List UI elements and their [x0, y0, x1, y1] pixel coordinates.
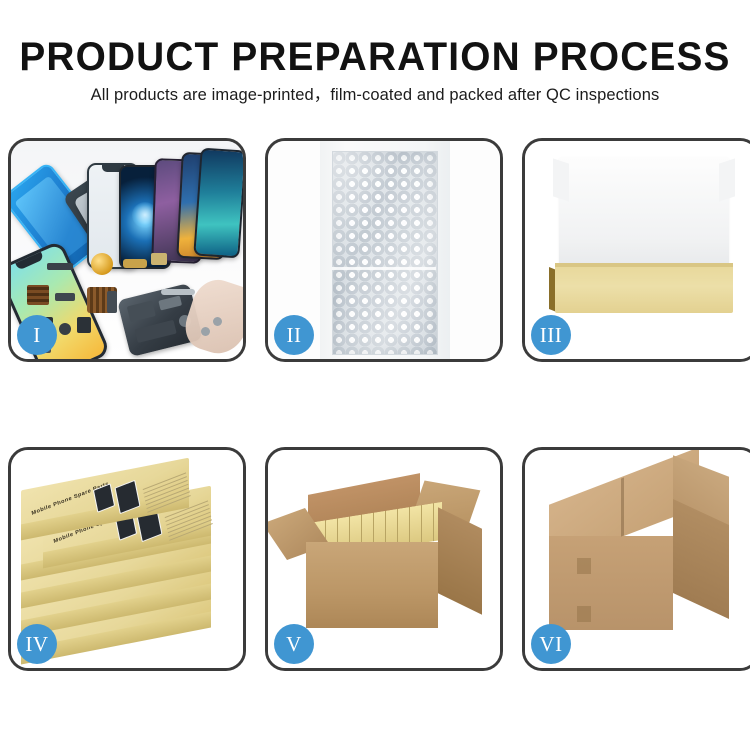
step-panel-2: II	[265, 138, 503, 362]
part-icon	[107, 291, 117, 313]
process-steps-grid: I II III	[8, 138, 742, 676]
part-icon	[59, 323, 71, 335]
carton-front	[306, 542, 438, 628]
bubble-wrap	[332, 151, 438, 355]
wrap-seam	[332, 267, 436, 270]
part-icon	[123, 259, 147, 268]
step-panel-3: III	[522, 138, 750, 362]
phone-screen-teal	[193, 148, 243, 259]
screw-icon	[201, 327, 210, 336]
step-panel-1: I	[8, 138, 246, 362]
carton-tape-mark	[577, 558, 591, 574]
step-panel-6: VI	[522, 447, 750, 671]
carton-seam	[621, 477, 624, 536]
part-icon	[161, 289, 195, 295]
part-icon	[47, 263, 73, 270]
step-badge-2: II	[274, 315, 314, 355]
product-preparation-process-page: PRODUCT PREPARATION PROCESS All products…	[0, 0, 750, 750]
carton-tape-mark	[577, 606, 591, 622]
page-title: PRODUCT PREPARATION PROCESS	[11, 34, 739, 80]
step-badge-1: I	[17, 315, 57, 355]
page-subtitle: All products are image-printed，film-coat…	[0, 84, 750, 106]
carton-side	[438, 507, 482, 614]
step-panel-4: Mobile Phone Spare Parts Mobile Phone Sp…	[8, 447, 246, 671]
step-badge-5: V	[274, 624, 314, 664]
box-top-first: Mobile Phone Spare Parts	[21, 474, 189, 514]
step-badge-4: IV	[17, 624, 57, 664]
step-badge-3: III	[531, 315, 571, 355]
box-tray	[555, 265, 733, 313]
screw-icon	[213, 317, 222, 326]
part-icon	[27, 285, 49, 305]
gold-component-icon	[91, 253, 113, 275]
step-badge-6: VI	[531, 624, 571, 664]
part-icon	[55, 293, 75, 301]
box-lid	[559, 157, 729, 273]
part-icon	[151, 253, 167, 265]
step-panel-5: V	[265, 447, 503, 671]
part-icon	[77, 317, 91, 333]
carton-front	[549, 536, 673, 630]
